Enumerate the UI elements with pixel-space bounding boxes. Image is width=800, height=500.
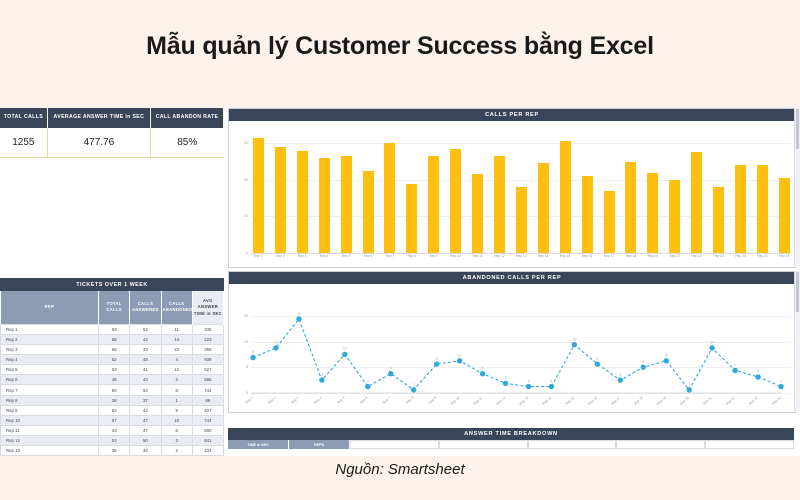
tickets-cell: 43 [130, 375, 161, 385]
tickets-col-1: TOTAL CALLS [99, 291, 130, 324]
bar [275, 147, 286, 253]
tickets-cell: 338 [192, 324, 223, 334]
tickets-cell: 6 [161, 425, 192, 435]
tickets-cell: 45 [99, 375, 130, 385]
x-axis-tick: Rep 10 [450, 396, 461, 406]
abt-empty-cell-5 [705, 440, 794, 449]
x-axis-tick: Rep 7 [382, 396, 391, 405]
tickets-cell: Rep 8 [1, 395, 99, 405]
tickets-cell: 12 [161, 365, 192, 375]
tickets-cell: 800 [192, 425, 223, 435]
x-axis-tick: Rep 3 [297, 254, 308, 265]
tickets-col-3: CALLS ABANDONED [161, 291, 192, 324]
spreadsheet-left-column: TOTAL CALLS AVERAGE ANSWER TIME in SEC C… [0, 108, 224, 456]
x-axis-tick: Rep 11 [472, 254, 483, 265]
tickets-cell: 627 [192, 365, 223, 375]
calls-per-rep-plot: 6040200Rep 1Rep 2Rep 3Rep 4Rep 5Rep 6Rep… [229, 121, 795, 266]
data-point [664, 358, 669, 363]
table-row: Rep 83837166 [1, 395, 224, 405]
x-axis-tick: Rep 9 [428, 254, 439, 265]
data-point [526, 384, 531, 389]
x-axis-tick: Rep 1 [253, 254, 264, 265]
tickets-cell: 58 [99, 334, 130, 344]
tickets-cell: Rep 3 [1, 345, 99, 355]
bar [538, 163, 549, 253]
kpi-summary-table: TOTAL CALLS AVERAGE ANSWER TIME in SEC C… [0, 108, 224, 158]
abt-empty-cell-2 [439, 440, 528, 449]
data-point [319, 377, 324, 382]
data-label: 2 [780, 379, 782, 383]
tickets-cell: 44 [130, 334, 161, 344]
x-axis-tick: Rep 6 [359, 396, 368, 405]
data-label: 15 [573, 338, 577, 342]
x-axis-tick: Rep 15 [560, 254, 571, 265]
calls-per-rep-title: CALLS PER REP [229, 109, 795, 121]
answer-time-breakdown-title: ANSWER TIME BREAKDOWN [228, 428, 794, 440]
data-point [388, 371, 393, 376]
kpi-value-avg-answer-time: 477.76 [47, 128, 150, 158]
tickets-cell: 54 [130, 385, 161, 395]
table-row: Rep 452484938 [1, 355, 224, 365]
x-axis-tick: Rep 8 [406, 254, 417, 265]
y-axis-tick: 60 [233, 141, 248, 145]
tickets-cell: 938 [192, 355, 223, 365]
tickets-cell: 11 [161, 324, 192, 334]
tickets-cell: 2 [161, 446, 192, 456]
x-axis-tick: Rep 17 [610, 396, 621, 406]
tickets-cell: Rep 9 [1, 405, 99, 415]
tickets-cell: 6 [161, 385, 192, 395]
tickets-cell: 47 [130, 415, 161, 425]
x-axis-tick: Rep 10 [450, 254, 461, 265]
y-axis-tick: 40 [233, 178, 248, 182]
tickets-cell: Rep 11 [1, 425, 99, 435]
tickets-col-0: REP [1, 291, 99, 324]
page-title: Mẫu quản lý Customer Success bằng Excel [0, 32, 800, 61]
kpi-header-abandon-rate: CALL ABANDON RATE [151, 108, 224, 128]
data-label: 2 [528, 379, 530, 383]
bar [472, 174, 483, 253]
bar [735, 165, 746, 253]
tickets-cell: Rep 13 [1, 446, 99, 456]
source-caption: Nguồn: Smartsheet [0, 461, 800, 478]
bar [625, 162, 636, 253]
abandoned-calls-title: ABANDONED CALLS PER REP [229, 272, 795, 284]
tickets-cell: 744 [192, 415, 223, 425]
data-point [618, 377, 623, 382]
tickets-section-band: TICKETS OVER 1 WEEK [0, 278, 224, 291]
data-point [595, 361, 600, 366]
data-label: 14 [274, 341, 278, 345]
abt-empty-cell-1 [350, 440, 439, 449]
tickets-cell: 48 [130, 355, 161, 365]
bar [560, 141, 571, 253]
data-label: 1 [413, 383, 415, 387]
x-axis-tick: Rep 22 [713, 254, 724, 265]
data-point [273, 345, 278, 350]
tickets-col-4: AVG ANSWER TIME in SEC [192, 291, 223, 324]
x-axis-tick: Rep 1 [244, 396, 253, 405]
x-axis-tick: Rep 7 [384, 254, 395, 265]
data-point [572, 342, 577, 347]
x-axis-tick: Rep 2 [267, 396, 276, 405]
kpi-value-abandon-rate: 85% [151, 128, 224, 158]
data-point [480, 371, 485, 376]
x-axis-tick: Rep 14 [542, 396, 553, 406]
x-axis-tick: Rep 6 [363, 254, 374, 265]
bar [319, 158, 330, 253]
tickets-cell: 56 [99, 345, 130, 355]
tickets-cell: 407 [192, 405, 223, 415]
x-axis-tick: Rep 2 [275, 254, 286, 265]
tickets-cell: 38 [99, 395, 130, 405]
data-label: 2 [367, 379, 369, 383]
tickets-cell: 9 [161, 405, 192, 415]
bar-series [253, 125, 790, 253]
tickets-cell: 3 [161, 435, 192, 445]
data-point [411, 387, 416, 392]
tickets-cell: 57 [99, 415, 130, 425]
bar [253, 138, 264, 253]
tickets-cell: 744 [192, 385, 223, 395]
data-label: 23 [297, 312, 301, 316]
tickets-cell: Rep 12 [1, 435, 99, 445]
calls-per-rep-panel: CALLS PER REP 6040200Rep 1Rep 2Rep 3Rep … [228, 108, 796, 268]
x-axis-tick: Rep 25 [779, 254, 790, 265]
data-label: 4 [321, 373, 323, 377]
answer-time-breakdown-header-row: TIME in SEC REPS [228, 440, 794, 449]
bar [341, 156, 352, 253]
tickets-cell: Rep 5 [1, 365, 99, 375]
tickets-col-2: CALLS ANSWERED [130, 291, 161, 324]
x-axis-tick: Rep 22 [725, 396, 736, 406]
x-axis-tick: Rep 24 [771, 396, 782, 406]
data-label: 1 [688, 383, 690, 387]
data-label: 7 [734, 363, 736, 367]
bar [757, 165, 768, 253]
tickets-cell: 53 [99, 435, 130, 445]
tickets-cell: 369 [192, 345, 223, 355]
tickets-cell: 43 [99, 425, 130, 435]
tickets-cell: 52 [99, 355, 130, 365]
x-axis-tick: Rep 8 [405, 396, 414, 405]
data-label: 11 [251, 350, 255, 354]
x-axis-tick: Rep 14 [538, 254, 549, 265]
tickets-cell: 41 [130, 365, 161, 375]
tickets-cell: 33 [130, 345, 161, 355]
bar [713, 187, 724, 253]
tickets-cell: Rep 10 [1, 415, 99, 425]
bar [450, 149, 461, 253]
tickets-cell: 2 [161, 375, 192, 385]
x-axis-tick: Rep 16 [582, 254, 593, 265]
x-axis-tick: Rep 13 [516, 254, 527, 265]
data-label: 12 [343, 347, 347, 351]
abandoned-calls-plot: 24168011142341226191063221594810114752Re… [229, 284, 795, 411]
table-row: Rep 1336342434 [1, 446, 224, 456]
data-label: 9 [596, 357, 598, 361]
abt-col-time-in-sec: TIME in SEC [228, 440, 289, 449]
abt-empty-cell-3 [528, 440, 617, 449]
table-row: Rep 760546744 [1, 385, 224, 395]
tickets-cell: Rep 2 [1, 334, 99, 344]
table-row: Rep 2584414223 [1, 334, 224, 344]
table-row: Rep 5534112627 [1, 365, 224, 375]
bar [297, 151, 308, 253]
x-axis-tick: Rep 4 [313, 396, 322, 405]
tickets-header-row: REPTOTAL CALLSCALLS ANSWEREDCALLS ABANDO… [1, 291, 224, 324]
data-point [342, 352, 347, 357]
screenshot-panel: TOTAL CALLS AVERAGE ANSWER TIME in SEC C… [0, 108, 800, 456]
x-axis-tick: Rep 18 [625, 254, 636, 265]
tickets-cell: 688 [192, 375, 223, 385]
data-label: 10 [458, 354, 462, 358]
tickets-cell: 1 [161, 395, 192, 405]
data-point [549, 384, 554, 389]
kpi-header-avg-answer-time: AVERAGE ANSWER TIME in SEC [47, 108, 150, 128]
bar [363, 171, 374, 253]
bar [691, 152, 702, 253]
x-axis-tick: Rep 16 [587, 396, 598, 406]
abt-empty-cell-4 [616, 440, 705, 449]
bar [428, 156, 439, 253]
bar [647, 173, 658, 253]
x-axis-labels: Rep 1Rep 2Rep 3Rep 4Rep 5Rep 6Rep 7Rep 8… [253, 254, 790, 265]
bar [779, 178, 790, 253]
data-label: 8 [642, 360, 644, 364]
tickets-cell: 23 [161, 345, 192, 355]
tickets-cell: 34 [130, 446, 161, 456]
x-axis-tick: Rep 12 [496, 396, 507, 406]
bar [406, 184, 417, 253]
data-point [686, 387, 691, 392]
table-row: Rep 3563323369 [1, 345, 224, 355]
answer-time-breakdown-panel: ANSWER TIME BREAKDOWN TIME in SEC REPS [228, 428, 794, 449]
chart-vertical-scrollbar-1[interactable] [794, 108, 800, 266]
data-label: 6 [482, 366, 484, 370]
bar [604, 191, 615, 253]
tickets-cell: 44 [130, 405, 161, 415]
x-axis-tick: Rep 12 [494, 254, 505, 265]
bar [384, 143, 395, 253]
tickets-cell: 66 [192, 395, 223, 405]
tickets-cell: 52 [130, 324, 161, 334]
data-label: 4 [619, 373, 621, 377]
data-point [755, 374, 760, 379]
tickets-cell: Rep 4 [1, 355, 99, 365]
kpi-value-row: 1255 477.76 85% [0, 128, 224, 158]
tickets-cell: 841 [192, 435, 223, 445]
x-axis-tick: Rep 13 [519, 396, 530, 406]
table-row: Rep 10574710744 [1, 415, 224, 425]
x-axis-tick: Rep 15 [564, 396, 575, 406]
tickets-cell: Rep 6 [1, 375, 99, 385]
bar [516, 187, 527, 253]
data-label: 6 [390, 366, 392, 370]
tickets-cell: 4 [161, 355, 192, 365]
abandoned-calls-line-series: 11142341226191063221594810114752Rep 1Rep… [229, 284, 789, 411]
x-axis-tick: Rep 3 [290, 396, 299, 405]
x-axis-tick: Rep 18 [633, 396, 644, 406]
tickets-table: REPTOTAL CALLSCALLS ANSWEREDCALLS ABANDO… [0, 291, 224, 456]
x-axis-tick: Rep 9 [428, 396, 437, 405]
table-row: Rep 1635211338 [1, 324, 224, 334]
tickets-cell: 37 [130, 425, 161, 435]
data-point [732, 368, 737, 373]
data-point [709, 345, 714, 350]
kpi-header-row: TOTAL CALLS AVERAGE ANSWER TIME in SEC C… [0, 108, 224, 128]
tickets-cell: 434 [192, 446, 223, 456]
table-row: Rep 1253503841 [1, 435, 224, 445]
tickets-cell: 60 [99, 385, 130, 395]
tickets-cell: 14 [161, 334, 192, 344]
y-axis-tick: 20 [233, 214, 248, 218]
data-point [434, 361, 439, 366]
tickets-cell: 36 [99, 446, 130, 456]
charts-right-column: CALLS PER REP 6040200Rep 1Rep 2Rep 3Rep … [228, 108, 800, 456]
table-row: Rep 953449407 [1, 405, 224, 415]
data-label: 3 [505, 376, 507, 380]
data-point [296, 316, 301, 321]
x-axis-tick: Rep 21 [691, 254, 702, 265]
tickets-cell: 37 [130, 395, 161, 405]
x-axis-tick: Rep 19 [656, 396, 667, 406]
table-row: Rep 1143376800 [1, 425, 224, 435]
tickets-cell: Rep 1 [1, 324, 99, 334]
x-axis-tick: Rep 19 [647, 254, 658, 265]
data-label: 10 [664, 354, 668, 358]
x-axis-tick: Rep 23 [748, 396, 759, 406]
data-point [778, 384, 783, 389]
x-axis-tick: Rep 11 [473, 396, 484, 406]
x-axis-tick: Rep 20 [679, 396, 690, 406]
tickets-cell: Rep 7 [1, 385, 99, 395]
data-label: 5 [757, 370, 759, 374]
y-axis-tick: 0 [233, 251, 248, 255]
abandoned-calls-panel: ABANDONED CALLS PER REP 2416801114234122… [228, 271, 796, 413]
x-axis-tick: Rep 23 [735, 254, 746, 265]
data-label: 2 [551, 379, 553, 383]
data-label: 9 [436, 357, 438, 361]
data-label: 14 [710, 341, 714, 345]
x-axis-tick: Rep 17 [604, 254, 615, 265]
bar [494, 156, 505, 253]
chart-vertical-scrollbar-2[interactable] [794, 271, 800, 411]
x-axis-tick: Rep 4 [319, 254, 330, 265]
tickets-cell: 10 [161, 415, 192, 425]
tickets-cell: 223 [192, 334, 223, 344]
table-row: Rep 645432688 [1, 375, 224, 385]
data-point [503, 381, 508, 386]
x-axis-tick: Rep 21 [702, 396, 713, 406]
kpi-header-total-calls: TOTAL CALLS [0, 108, 47, 128]
kpi-value-total-calls: 1255 [0, 128, 47, 158]
data-point [641, 365, 646, 370]
data-point [457, 358, 462, 363]
data-point [365, 384, 370, 389]
x-axis-tick: Rep 24 [757, 254, 768, 265]
tickets-cell: 53 [99, 365, 130, 375]
bar [582, 176, 593, 253]
x-axis-tick: Rep 5 [341, 254, 352, 265]
bar [669, 180, 680, 253]
x-axis-tick: Rep 5 [336, 396, 345, 405]
data-point [250, 355, 255, 360]
tickets-cell: 53 [99, 405, 130, 415]
tickets-cell: 63 [99, 324, 130, 334]
tickets-cell: 50 [130, 435, 161, 445]
x-axis-tick: Rep 20 [669, 254, 680, 265]
abt-col-reps: REPS [289, 440, 350, 449]
